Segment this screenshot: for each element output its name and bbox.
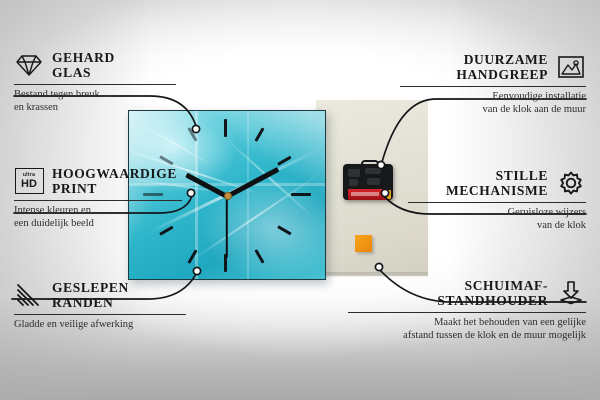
clock-tick	[277, 226, 291, 236]
down-arrow-spacer-icon	[556, 278, 586, 308]
feature-title: HOOGWAARDIGE PRINT	[52, 166, 177, 196]
divider	[14, 200, 182, 201]
feature-subtitle-1: Intense kleuren en	[14, 205, 182, 218]
feature-title: GESLEPEN RANDEN	[52, 280, 129, 310]
feature-subtitle-1: Gladde en veilige afwerking	[14, 319, 186, 332]
mechanism-detail	[367, 178, 380, 185]
feature-subtitle-2: van de klok aan de muur	[400, 104, 586, 117]
feature-title: GEHARD GLAS	[52, 50, 115, 80]
feature-schuimafstandhouder: SCHUIMAF- STANDHOUDER Maakt het behouden…	[348, 278, 586, 342]
feature-subtitle-2: een duidelijk beeld	[14, 218, 182, 231]
feature-hoogwaardige-print: ultra HD HOOGWAARDIGE PRINT Intense kleu…	[14, 166, 182, 230]
glass-reflection-vertical-2	[247, 111, 249, 279]
feature-heading: GESLEPEN RANDEN	[14, 280, 186, 310]
gear-icon	[556, 168, 586, 198]
feature-heading: DUURZAME HANDGREEP	[400, 52, 586, 82]
feature-subtitle-2: afstand tussen de klok en de muur mogeli…	[348, 330, 586, 343]
feature-title: STILLE MECHANISME	[446, 168, 548, 198]
feature-subtitle-1: Geruisloze wijzers	[408, 207, 586, 220]
beveled-edge-icon	[14, 280, 44, 310]
divider	[348, 312, 586, 313]
feature-stille-mechanisme: STILLE MECHANISME Geruisloze wijzers van…	[408, 168, 586, 232]
feature-title: SCHUIMAF- STANDHOUDER	[437, 278, 548, 308]
diamond-icon	[14, 50, 44, 80]
clock-tick	[291, 193, 311, 196]
clock-hub	[224, 192, 232, 200]
feature-heading: SCHUIMAF- STANDHOUDER	[348, 278, 586, 308]
mechanism-detail	[349, 179, 358, 186]
feature-duurzame-handgreep: DUURZAME HANDGREEP Eenvoudige installati…	[400, 52, 586, 116]
mechanism-body	[343, 164, 393, 200]
clock-tick	[254, 249, 264, 263]
mechanism-detail	[348, 169, 360, 177]
clock-tick	[224, 119, 227, 137]
feature-gehard-glas: GEHARD GLAS Bestand tegen breuk en krass…	[14, 50, 176, 114]
clock-tick	[254, 127, 264, 141]
ultra-hd-icon: ultra HD	[14, 166, 44, 196]
mechanism-detail	[365, 168, 381, 174]
clock-second-hand	[226, 196, 228, 258]
infographic-canvas: GEHARD GLAS Bestand tegen breuk en krass…	[0, 0, 600, 400]
feature-subtitle-1: Bestand tegen breuk	[14, 89, 176, 102]
feature-heading: ultra HD HOOGWAARDIGE PRINT	[14, 166, 182, 196]
feature-heading: GEHARD GLAS	[14, 50, 176, 80]
feature-subtitle-2: van de klok	[408, 220, 586, 233]
divider	[14, 314, 186, 315]
feature-subtitle-2: en krassen	[14, 102, 176, 115]
feature-subtitle-1: Maakt het behouden van een gelijke	[348, 317, 586, 330]
feature-title: DUURZAME HANDGREEP	[456, 52, 548, 82]
clock-mechanism	[343, 160, 393, 200]
battery	[348, 189, 388, 200]
battery-terminal	[386, 190, 391, 199]
feature-subtitle-1: Eenvoudige installatie	[400, 91, 586, 104]
divider	[400, 86, 586, 87]
divider	[14, 84, 176, 85]
feature-geslepen-randen: GESLEPEN RANDEN Gladde en veilige afwerk…	[14, 280, 186, 332]
divider	[408, 202, 586, 203]
framed-picture-icon	[556, 52, 586, 82]
feature-heading: STILLE MECHANISME	[408, 168, 586, 198]
battery-label	[351, 192, 379, 196]
ultra-hd-badge: ultra HD	[15, 168, 44, 194]
foam-spacer	[355, 235, 372, 252]
